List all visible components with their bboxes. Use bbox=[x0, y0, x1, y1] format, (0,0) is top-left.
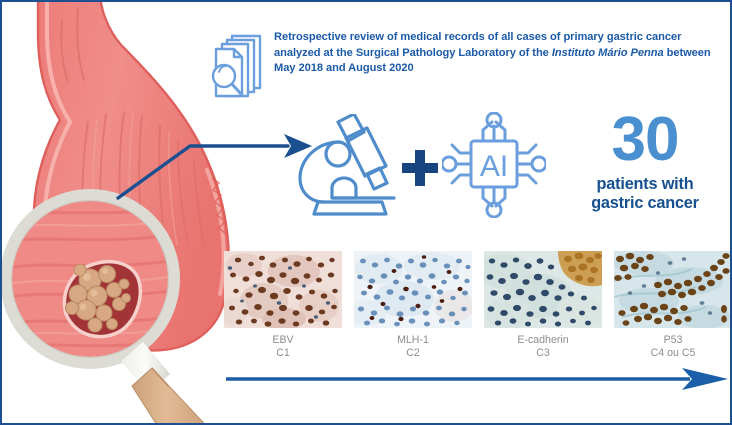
panel-label-p53: P53 C4 ou C5 bbox=[614, 334, 732, 359]
panel-name-ecadherin: E-cadherin bbox=[484, 334, 602, 347]
histology-panel-p53: P53 C4 ou C5 bbox=[614, 251, 732, 356]
histology-panel-ebv: EBV C1 bbox=[224, 251, 342, 356]
ecadherin-immunohistochemistry-image bbox=[484, 251, 602, 328]
header-paragraph: Retrospective review of medical records … bbox=[274, 30, 726, 77]
histology-panels-row: EBV C1 bbox=[224, 251, 732, 356]
plus-icon bbox=[400, 148, 440, 188]
panel-code-p53: C4 ou C5 bbox=[614, 347, 732, 360]
panel-code-mlh1: C2 bbox=[354, 347, 472, 360]
caption-line-2: gastric cancer bbox=[562, 194, 728, 213]
patient-count-caption: patients with gastric cancer bbox=[562, 175, 728, 212]
ai-chip-label: AI bbox=[480, 150, 508, 183]
caption-line-1: patients with bbox=[562, 175, 728, 194]
p53-immunohistochemistry-image bbox=[614, 251, 732, 328]
ebv-immunohistochemistry-image bbox=[224, 251, 342, 328]
header-text-institute: Instituto Mário Penna bbox=[552, 47, 664, 59]
panel-label-mlh1: MLH-1 C2 bbox=[354, 334, 472, 359]
patient-count-block: 30 patients with gastric cancer bbox=[562, 110, 728, 212]
histology-panel-mlh1: MLH-1 C2 bbox=[354, 251, 472, 356]
header-block: Retrospective review of medical records … bbox=[208, 28, 728, 108]
panel-name-ebv: EBV bbox=[224, 334, 342, 347]
panel-label-ebv: EBV C1 bbox=[224, 334, 342, 359]
histology-panel-ecadherin: E-cadherin C3 bbox=[484, 251, 602, 356]
gastric-tumor-nodules bbox=[64, 262, 140, 337]
stomach-anatomy-illustration bbox=[2, 2, 232, 425]
panel-name-p53: P53 bbox=[614, 334, 732, 347]
documents-search-icon bbox=[208, 32, 270, 102]
method-icon-row: AI bbox=[294, 112, 544, 220]
panel-label-ecadherin: E-cadherin C3 bbox=[484, 334, 602, 359]
graphical-abstract-canvas: Retrospective review of medical records … bbox=[0, 0, 732, 425]
panel-code-ebv: C1 bbox=[224, 347, 342, 360]
panel-name-mlh1: MLH-1 bbox=[354, 334, 472, 347]
mlh1-immunohistochemistry-image bbox=[354, 251, 472, 328]
panel-code-ecadherin: C3 bbox=[484, 347, 602, 360]
patient-count-number: 30 bbox=[562, 110, 728, 170]
microscope-icon bbox=[294, 114, 399, 218]
workflow-arrow-right bbox=[224, 368, 730, 390]
ai-chip-icon: AI bbox=[442, 112, 546, 218]
